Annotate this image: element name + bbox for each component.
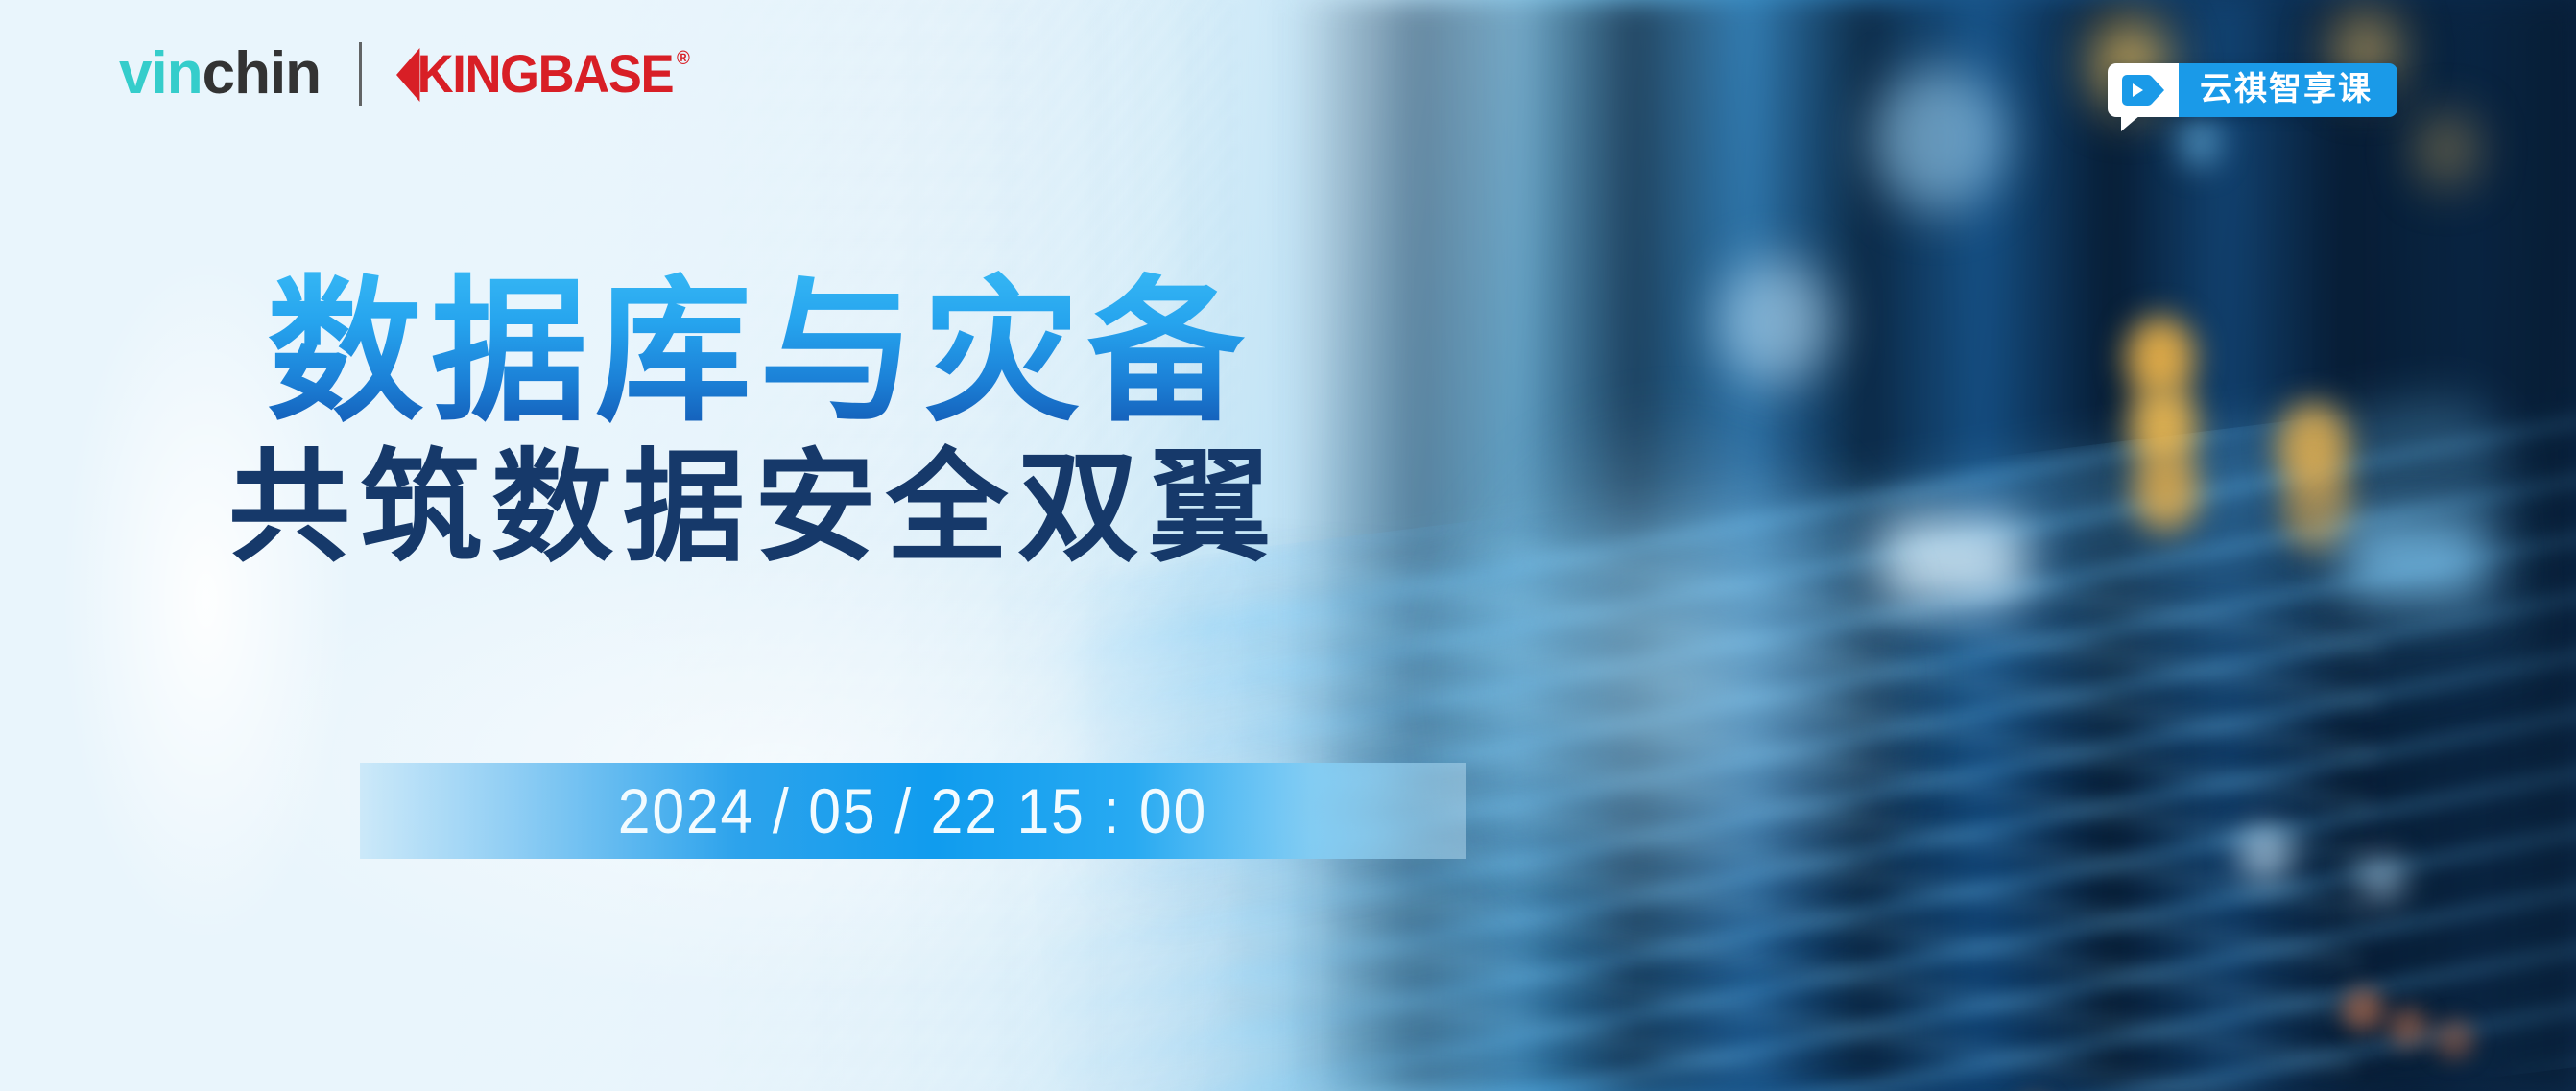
webinar-banner: vinchin KINGBASE® 云祺智享课 数据库与灾备 共筑数据安全双翼 … (0, 0, 2576, 1091)
kingbase-logo[interactable]: KINGBASE® (396, 47, 688, 101)
headline-block: 数据库与灾备 共筑数据安全双翼 (0, 271, 1497, 576)
page-title: 数据库与灾备 (0, 271, 1497, 434)
video-camera-icon (2122, 75, 2164, 106)
brand-logo-row: vinchin KINGBASE® (119, 42, 707, 106)
vinchin-logo[interactable]: vinchin (119, 44, 321, 104)
registered-trademark-icon: ® (677, 49, 688, 68)
schedule-bar: 2024 / 05 / 22 15 : 00 (360, 763, 1466, 859)
vinchin-logo-teal-part: vin (119, 40, 203, 107)
page-subtitle: 共筑数据安全双翼 (0, 439, 1497, 576)
course-badge[interactable]: 云祺智享课 (2108, 63, 2397, 117)
kingbase-arrow-icon (396, 48, 419, 102)
vinchin-logo-dark-part: chin (203, 40, 321, 107)
badge-label: 云祺智享课 (2200, 73, 2373, 106)
badge-text-container: 云祺智享课 (2179, 63, 2397, 117)
kingbase-logo-text: KINGBASE (417, 47, 674, 101)
badge-icon-container (2108, 63, 2179, 117)
logo-divider (359, 42, 362, 106)
schedule-datetime: 2024 / 05 / 22 15 : 00 (618, 779, 1207, 842)
